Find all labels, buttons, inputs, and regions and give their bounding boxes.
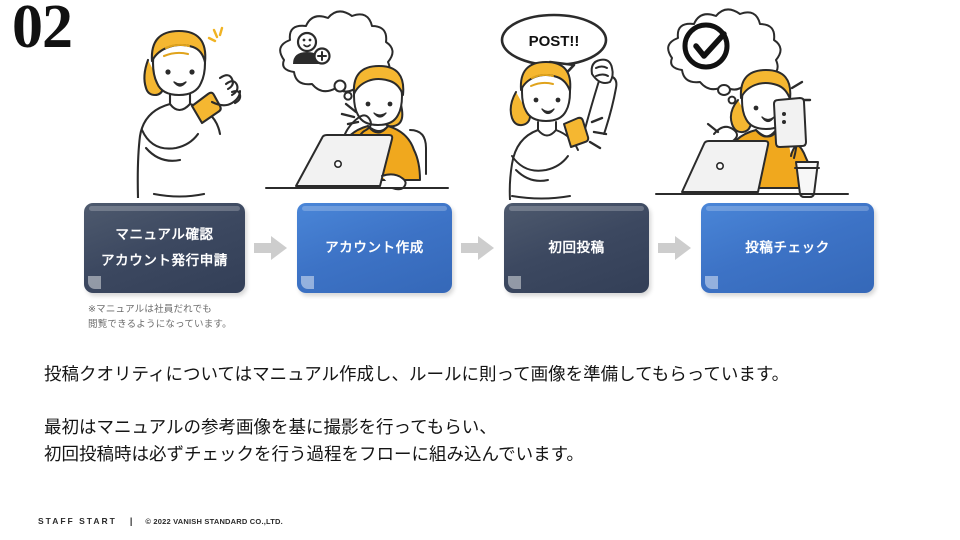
manual-availability-note: ※マニュアルは社員だれでも 閲覧できるようになっています。 [88,303,232,332]
flow-step-label-line1: 初回投稿 [548,235,604,261]
illustration-woman-with-smartphone [108,8,248,203]
arrow-right-icon [461,235,495,261]
body-copy: 投稿クオリティについてはマニュアル作成し、ルールに則って画像を準備してもらってい… [44,362,934,469]
footer-copyright: © 2022 VANISH STANDARD CO.,LTD. [145,517,283,526]
flow-step-label-line1: マニュアル確認 [115,222,213,248]
speech-bubble-text: POST!! [529,33,580,50]
process-flow: マニュアル確認 アカウント発行申請 アカウント作成 初回投稿 投稿チェック [84,200,874,296]
sparkle-icon [209,28,222,41]
flow-step-account-create[interactable]: アカウント作成 [297,203,452,293]
flow-step-label-line1: アカウント作成 [325,235,424,261]
footer-separator: | [130,516,133,526]
flow-step-post-check[interactable]: 投稿チェック [701,203,874,293]
body-paragraph-1: 投稿クオリティについてはマニュアル作成し、ルールに則って画像を準備してもらってい… [44,362,934,389]
flow-step-first-post[interactable]: 初回投稿 [504,203,649,293]
flow-arrow-2 [452,235,504,261]
body-paragraph-2: 最初はマニュアルの参考画像を基に撮影を行ってもらい、 初回投稿時は必ずチェックを… [44,415,934,469]
arrow-right-icon [254,235,288,261]
footer: STAFF START | © 2022 VANISH STANDARD CO.… [38,516,283,526]
flow-step-label-line2: アカウント発行申請 [101,248,228,274]
flow-step-label-line1: 投稿チェック [745,235,830,261]
flow-step-manual-check[interactable]: マニュアル確認 アカウント発行申請 [84,203,245,293]
illustration-woman-checking-post [652,8,852,205]
illustration-woman-at-laptop-thinking [262,8,452,205]
illustration-woman-cheering: POST!! [486,8,646,205]
footer-brand: STAFF START [38,516,117,526]
arrow-right-icon [658,235,692,261]
flow-arrow-1 [245,235,297,261]
flow-arrow-3 [649,235,701,261]
check-circle-icon [685,25,727,67]
illustration-band: POST!! [0,0,960,200]
